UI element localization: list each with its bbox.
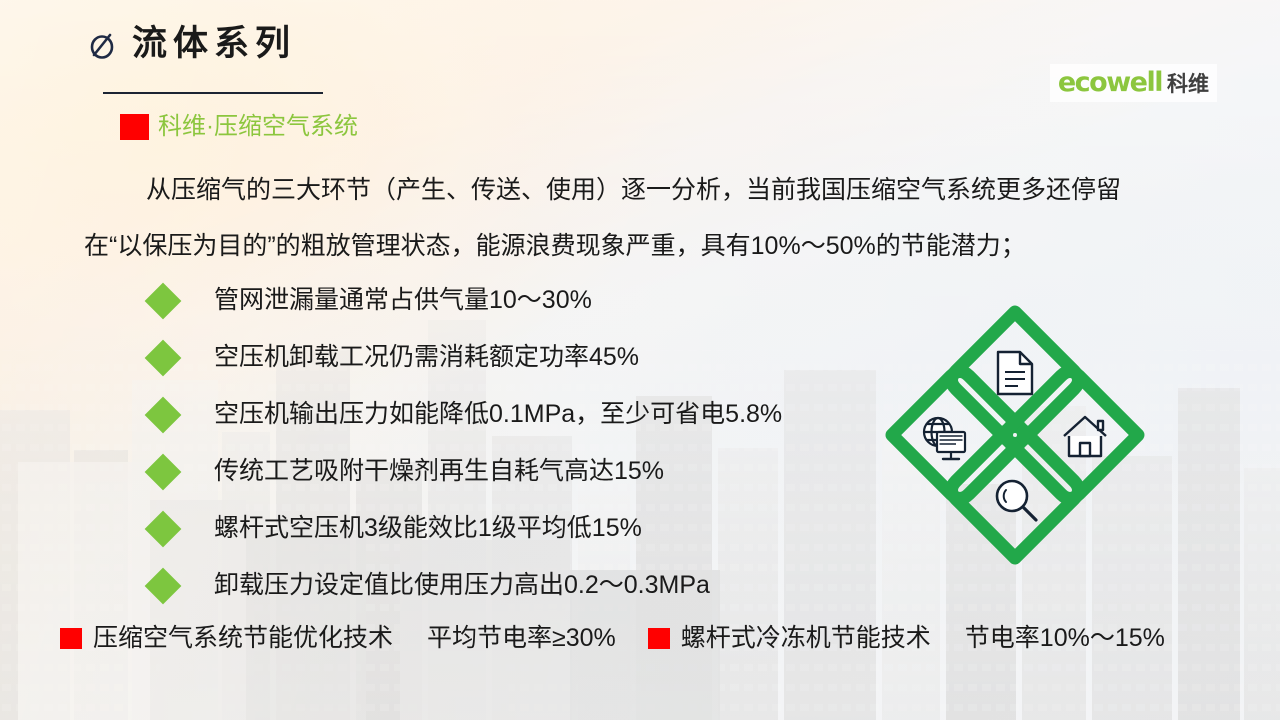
footer-item-1-metric: 平均节电率≥30% [427, 626, 616, 651]
footer-bar: 压缩空气系统节能优化技术 平均节电率≥30% 螺杆式冷冻机节能技术 节电率10%… [60, 626, 1165, 651]
magnifier-icon [997, 481, 1036, 520]
diamond-bullet-icon [145, 282, 182, 319]
intro-line-1-text: 从压缩气的三大环节（产生、传送、使用）逐一分析，当前我国压缩空气系统更多还停留 [146, 176, 1121, 204]
slide-canvas: 流体系列 ecowell 科维 科维·压缩空气系统 从压缩气的三大环节（产生、传… [0, 0, 1280, 720]
brand-logo: ecowell 科维 [1050, 64, 1217, 102]
diamond-bullet-icon [145, 339, 182, 376]
list-item-label: 卸载压力设定值比使用压力高出0.2～0.3MPa [214, 573, 710, 598]
list-item: 空压机卸载工况仍需消耗额定功率45% [150, 329, 782, 386]
list-item-label: 空压机输出压力如能降低0.1MPa，至少可省电5.8% [214, 402, 782, 427]
logo-chinese-text: 科维 [1167, 68, 1209, 98]
footer-item-2-metric: 节电率10%～15% [965, 626, 1165, 651]
section-heading-label: 科维·压缩空气系统 [158, 115, 358, 139]
intro-paragraph: 从压缩气的三大环节（产生、传送、使用）逐一分析，当前我国压缩空气系统更多还停留 … [84, 162, 1204, 274]
list-item-label: 螺杆式空压机3级能效比1级平均低15% [214, 516, 642, 541]
footer-item-1-name: 压缩空气系统节能优化技术 [93, 626, 393, 651]
list-item: 螺杆式空压机3级能效比1级平均低15% [150, 500, 782, 557]
list-item-label: 传统工艺吸附干燥剂再生自耗气高达15% [214, 459, 664, 484]
title-underline [103, 92, 323, 94]
house-icon [1064, 417, 1106, 456]
list-item: 管网泄漏量通常占供气量10～30% [150, 272, 782, 329]
diamond-bullet-icon [145, 453, 182, 490]
footer-item-2: 螺杆式冷冻机节能技术 节电率10%～15% [648, 626, 1165, 651]
diamond-bullet-icon [145, 396, 182, 433]
logo-latin-text: ecowell [1058, 67, 1162, 98]
page-title: 流体系列 [132, 26, 296, 61]
bullet-list: 管网泄漏量通常占供气量10～30% 空压机卸载工况仍需消耗额定功率45% 空压机… [150, 272, 782, 614]
intro-paragraph-line-1: 从压缩气的三大环节（产生、传送、使用）逐一分析，当前我国压缩空气系统更多还停留 [84, 162, 1204, 218]
red-square-marker-icon [60, 628, 82, 649]
section-heading: 科维·压缩空气系统 [120, 114, 358, 140]
quatrefoil-diagram [878, 298, 1152, 572]
intro-paragraph-line-2: 在“以保压为目的”的粗放管理状态，能源浪费现象严重，具有10%～50%的节能潜力… [84, 218, 1204, 274]
list-item: 传统工艺吸附干燥剂再生自耗气高达15% [150, 443, 782, 500]
document-icon [998, 352, 1032, 394]
slashed-circle-icon [88, 27, 116, 61]
globe-monitor-icon [924, 418, 965, 459]
diamond-bullet-icon [145, 567, 182, 604]
slide-title-row: 流体系列 [88, 26, 296, 61]
list-item-label: 管网泄漏量通常占供气量10～30% [214, 288, 592, 313]
list-item-label: 空压机卸载工况仍需消耗额定功率45% [214, 345, 639, 370]
list-item: 卸载压力设定值比使用压力高出0.2～0.3MPa [150, 557, 782, 614]
list-item: 空压机输出压力如能降低0.1MPa，至少可省电5.8% [150, 386, 782, 443]
footer-item-1: 压缩空气系统节能优化技术 平均节电率≥30% [60, 626, 616, 651]
footer-item-2-name: 螺杆式冷冻机节能技术 [681, 626, 931, 651]
red-square-marker-icon [648, 628, 670, 649]
diamond-bullet-icon [145, 510, 182, 547]
red-square-marker-icon [120, 114, 149, 140]
